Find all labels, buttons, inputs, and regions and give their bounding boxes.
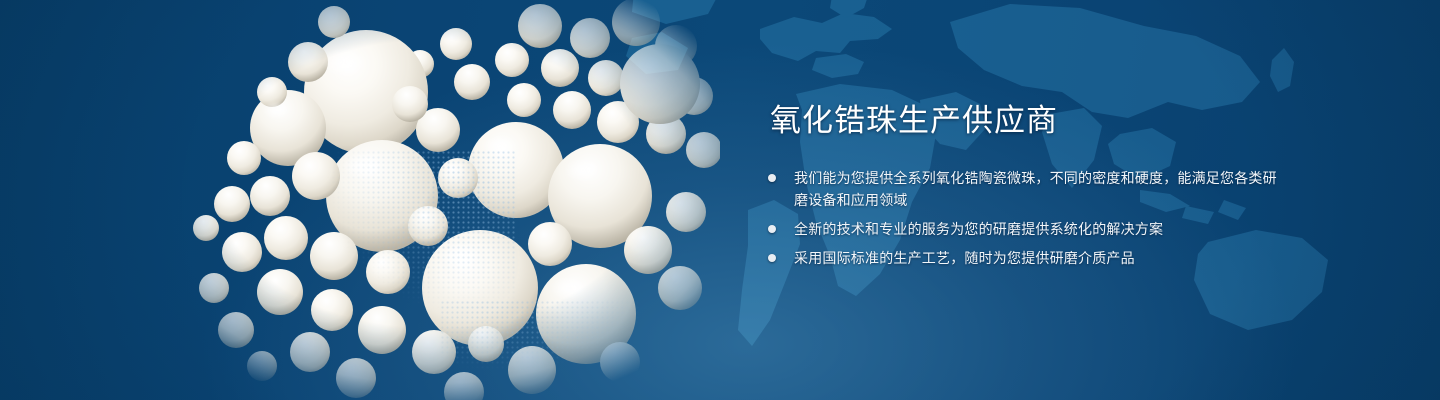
bullet-dot-icon [768,225,776,233]
bullet-dot-icon [768,174,776,182]
list-item: 我们能为您提供全系列氧化锆陶瓷微珠，不同的密度和硬度，能满足您各类研磨设备和应用… [764,167,1284,211]
list-item: 全新的技术和专业的服务为您的研磨提供系统化的解决方案 [764,218,1284,240]
bullet-text: 采用国际标准的生产工艺，随时为您提供研磨介质产品 [794,247,1284,269]
banner-bullet-list: 我们能为您提供全系列氧化锆陶瓷微珠，不同的密度和硬度，能满足您各类研磨设备和应用… [764,167,1284,269]
list-item: 采用国际标准的生产工艺，随时为您提供研磨介质产品 [764,247,1284,269]
bullet-text: 全新的技术和专业的服务为您的研磨提供系统化的解决方案 [794,218,1284,240]
beads-illustration [120,0,720,400]
bullet-dot-icon [768,254,776,262]
banner-headline: 氧化锆珠生产供应商 [770,104,1284,137]
bullet-text: 我们能为您提供全系列氧化锆陶瓷微珠，不同的密度和硬度，能满足您各类研磨设备和应用… [794,167,1284,211]
hero-banner: 氧化锆珠生产供应商 我们能为您提供全系列氧化锆陶瓷微珠，不同的密度和硬度，能满足… [0,0,1440,400]
banner-copy: 氧化锆珠生产供应商 我们能为您提供全系列氧化锆陶瓷微珠，不同的密度和硬度，能满足… [764,104,1284,269]
zirconia-beads-photo [120,0,720,400]
